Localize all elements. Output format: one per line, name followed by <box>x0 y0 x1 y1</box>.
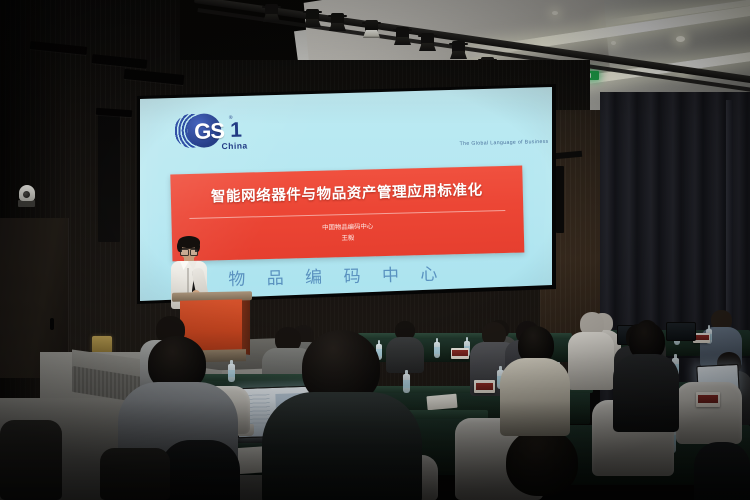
downlight-icon <box>611 41 616 45</box>
stage-spotlight <box>328 13 347 29</box>
audience-member-foreground <box>160 440 240 500</box>
stage-spotlight <box>262 4 281 20</box>
stage-spotlight <box>393 27 412 43</box>
audience-member <box>568 312 614 386</box>
eyeglasses-icon <box>180 248 198 254</box>
gs1-numeral: 1 <box>230 119 242 143</box>
stage-spotlight <box>303 9 322 25</box>
audience-member <box>613 322 679 426</box>
stage-spotlight <box>362 20 381 36</box>
document-paper <box>426 394 457 411</box>
ptz-camera-icon <box>19 185 35 201</box>
downlight-icon <box>676 36 685 42</box>
slide-title: 智能网络器件与物品资产管理应用标准化 <box>171 178 523 208</box>
camera-mount <box>18 200 35 207</box>
downlight-icon <box>552 11 558 15</box>
gs1-tagline: The Global Language of Business <box>460 139 549 147</box>
door-handle[interactable] <box>50 318 54 330</box>
name-tent-card <box>474 380 495 393</box>
wall-speaker-panel <box>98 112 120 242</box>
slide-title-banner: 智能网络器件与物品资产管理应用标准化 中国物品编码中心 王毅 <box>170 166 524 262</box>
audience-member-foreground <box>262 330 422 500</box>
gs1-logo: GS ® 1 China <box>174 110 251 152</box>
chair <box>100 448 170 500</box>
water-bottle <box>434 342 440 358</box>
audience-member-foreground <box>478 428 608 500</box>
chair <box>0 420 62 500</box>
conference-room-photo: GS ® 1 China The Global Language of Busi… <box>0 0 750 500</box>
audience-member-foreground <box>694 442 750 500</box>
name-tent-card <box>451 348 469 359</box>
title-divider <box>189 210 505 219</box>
audience-member <box>500 326 570 431</box>
wall-outlet <box>92 336 112 353</box>
slide-watermark: 国 物 品 编 码 中 心 <box>190 258 491 291</box>
name-tent-card <box>696 392 720 407</box>
gs1-region-label: China <box>221 140 247 151</box>
curtain-edge <box>726 100 733 330</box>
stage-spotlight <box>418 33 437 49</box>
stage-spotlight <box>449 41 468 57</box>
